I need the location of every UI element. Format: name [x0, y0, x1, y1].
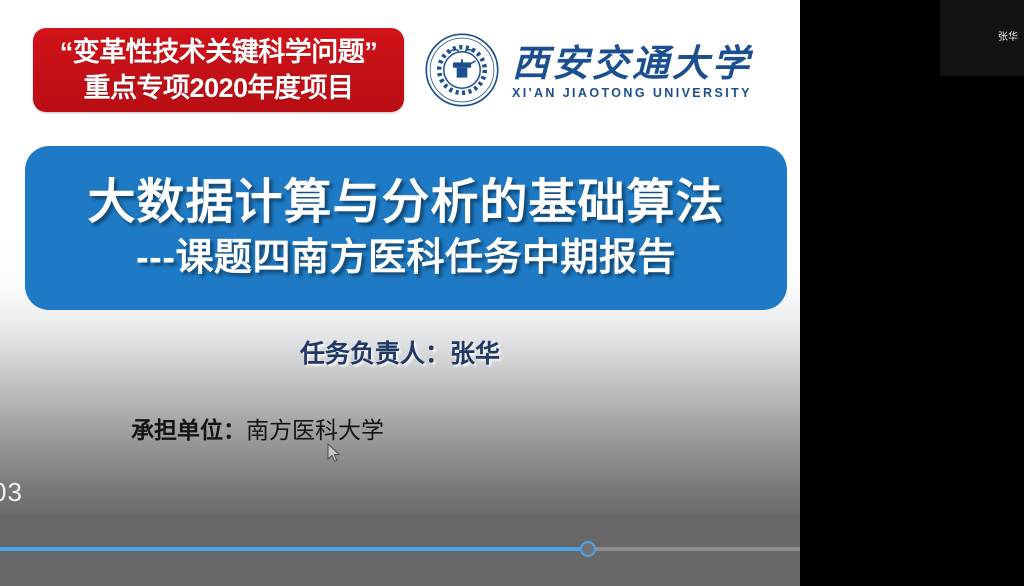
slide-affiliation-label: 承担单位： — [131, 417, 246, 443]
university-seal-icon — [424, 32, 500, 108]
program-banner: “变革性技术关键科学问题” 重点专项2020年度项目 — [33, 28, 404, 112]
participant-rail: 张华 — [800, 0, 1024, 586]
university-wordmark: 西安交通大学 XI'AN JIAOTONG UNIVERSITY — [512, 41, 752, 100]
program-banner-line2: 重点专项2020年度项目 — [83, 70, 353, 106]
slide-affiliation-value: 南方医科大学 — [246, 417, 384, 443]
seek-progress-fill — [0, 547, 588, 551]
slide-number: 03 — [0, 477, 23, 508]
shared-screen-stage[interactable]: “变革性技术关键科学问题” 重点专项2020年度项目 — [0, 0, 800, 586]
slide-title-box: 大数据计算与分析的基础算法 ---课题四南方医科任务中期报告 — [25, 146, 787, 310]
participant-name-label: 张华 — [998, 28, 1018, 43]
university-logo: 西安交通大学 XI'AN JIAOTONG UNIVERSITY — [424, 27, 730, 113]
slide-speaker: 任务负责人：张华 — [0, 334, 800, 370]
university-name-en: XI'AN JIAOTONG UNIVERSITY — [512, 86, 752, 100]
participant-video-tile[interactable]: 张华 — [940, 0, 1024, 76]
slide-title-sub: ---课题四南方医科任务中期报告 — [136, 234, 676, 282]
seek-handle[interactable] — [580, 541, 596, 557]
meeting-screen-share-window: “变革性技术关键科学问题” 重点专项2020年度项目 — [0, 0, 1024, 586]
university-name-cn: 西安交通大学 — [512, 41, 752, 85]
presentation-slide: “变革性技术关键科学问题” 重点专项2020年度项目 — [0, 0, 800, 513]
slide-affiliation: 承担单位：南方医科大学 — [131, 411, 384, 445]
program-banner-line1: “变革性技术关键科学问题” — [60, 34, 378, 70]
seek-bar[interactable] — [0, 547, 800, 551]
mouse-cursor-icon — [327, 443, 341, 463]
slide-title-main: 大数据计算与分析的基础算法 — [87, 174, 724, 232]
player-chrome: 2022年7月26日 — [0, 513, 800, 586]
